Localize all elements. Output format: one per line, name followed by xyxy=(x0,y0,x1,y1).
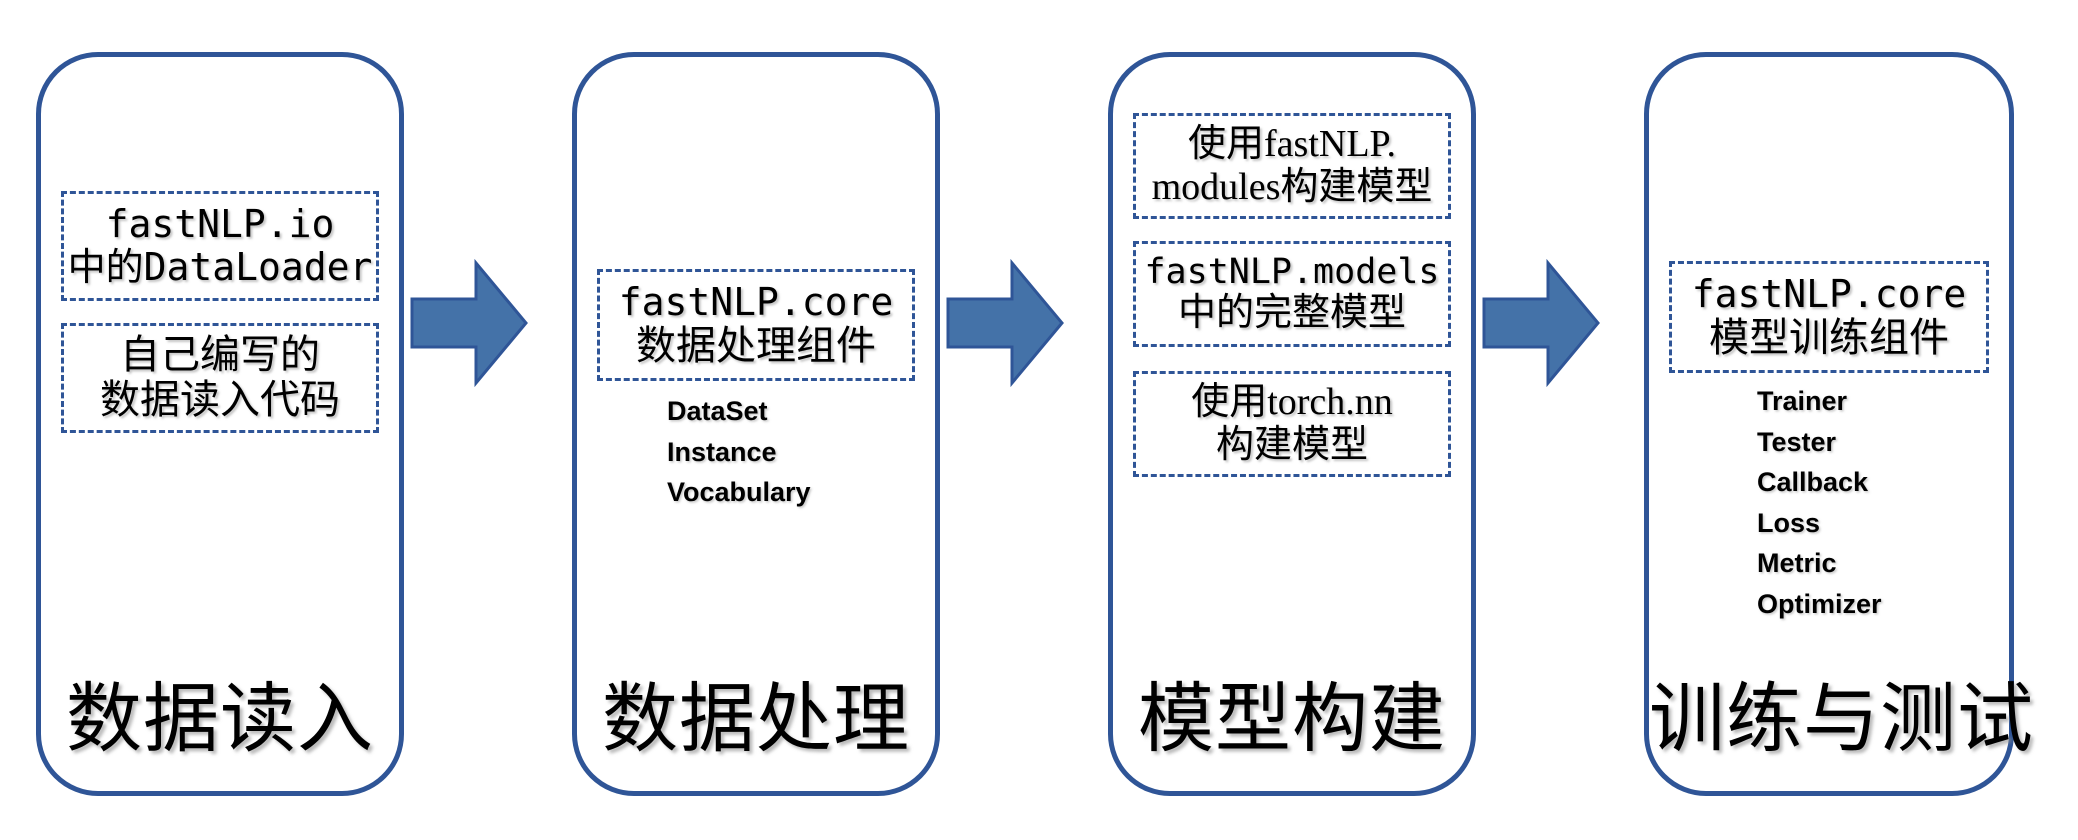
content-box-line: modules构建模型 xyxy=(1152,166,1433,209)
arrow-right-icon xyxy=(1482,259,1600,387)
content-box-line: fastNLP.core xyxy=(619,281,894,324)
content-box-fastnlp-core-train[interactable]: fastNLP.core 模型训练组件 xyxy=(1669,261,1989,373)
content-box-line: 数据读入代码 xyxy=(100,378,340,423)
stage-panel-train-and-test[interactable]: fastNLP.core 模型训练组件 Trainer Tester Callb… xyxy=(1644,52,2014,796)
list-item: Vocabulary xyxy=(667,472,919,513)
content-box-line: 模型训练组件 xyxy=(1709,316,1949,361)
content-box-line: fastNLP.models xyxy=(1144,253,1439,292)
content-box-fastnlp-core-data[interactable]: fastNLP.core 数据处理组件 xyxy=(597,269,915,381)
diagram-canvas: fastNLP.io 中的DataLoader 自己编写的 数据读入代码 数据读… xyxy=(0,0,2078,840)
content-box-line: 使用torch.nn xyxy=(1191,381,1393,424)
content-box-line: 中的DataLoader xyxy=(68,246,373,289)
content-box-line: fastNLP.core xyxy=(1692,273,1967,316)
list-item: Metric xyxy=(1757,543,1993,584)
content-box-custom-reader[interactable]: 自己编写的 数据读入代码 xyxy=(61,323,379,433)
list-item: DataSet xyxy=(667,391,919,432)
content-box-fastnlp-modules[interactable]: 使用fastNLP. modules构建模型 xyxy=(1133,113,1451,219)
content-box-line: 中的完整模型 xyxy=(1178,292,1406,335)
list-item: Tester xyxy=(1757,422,1993,463)
stage-panel-data-processing[interactable]: fastNLP.core 数据处理组件 DataSet Instance Voc… xyxy=(572,52,940,796)
list-item: Instance xyxy=(667,432,919,473)
list-item: Optimizer xyxy=(1757,584,1993,625)
content-box-line: fastNLP.io xyxy=(106,203,335,246)
content-box-line: 使用fastNLP. xyxy=(1188,123,1396,166)
component-list-training: Trainer Tester Callback Loss Metric Opti… xyxy=(1757,381,1993,624)
panel-title-data-reading: 数据读入 xyxy=(41,681,399,757)
panel-title-model-building: 模型构建 xyxy=(1113,681,1471,757)
list-item: Trainer xyxy=(1757,381,1993,422)
content-box-torch-nn[interactable]: 使用torch.nn 构建模型 xyxy=(1133,371,1451,477)
content-box-line: 数据处理组件 xyxy=(636,324,876,369)
stage-panel-data-reading[interactable]: fastNLP.io 中的DataLoader 自己编写的 数据读入代码 数据读… xyxy=(36,52,404,796)
stage-panel-model-building[interactable]: 使用fastNLP. modules构建模型 fastNLP.models 中的… xyxy=(1108,52,1476,796)
arrow-right-icon xyxy=(410,259,528,387)
panel-title-train-and-test: 训练与测试 xyxy=(1649,681,2009,757)
content-box-fastnlp-models[interactable]: fastNLP.models 中的完整模型 xyxy=(1133,241,1451,347)
content-box-line: 自己编写的 xyxy=(120,333,320,378)
content-box-line: 构建模型 xyxy=(1216,424,1368,467)
list-item: Loss xyxy=(1757,503,1993,544)
content-box-fastnlp-io[interactable]: fastNLP.io 中的DataLoader xyxy=(61,191,379,301)
list-item: Callback xyxy=(1757,462,1993,503)
component-list-core: DataSet Instance Vocabulary xyxy=(667,391,919,513)
panel-title-data-processing: 数据处理 xyxy=(577,681,935,757)
arrow-right-icon xyxy=(946,259,1064,387)
